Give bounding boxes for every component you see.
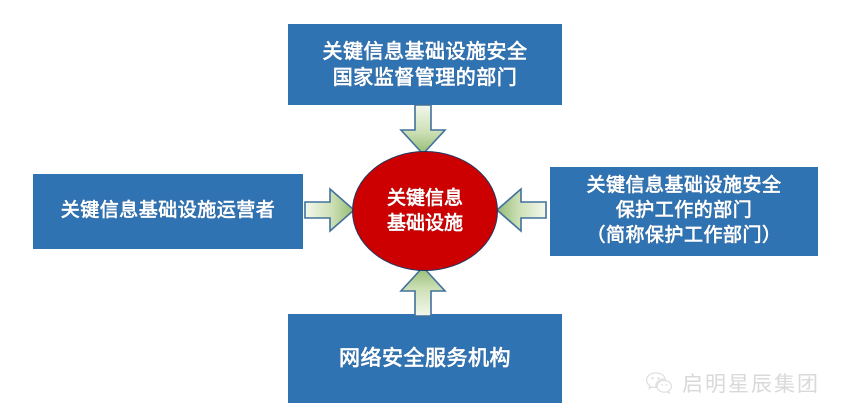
bottom-node-label: 网络安全服务机构 xyxy=(288,345,562,372)
center-node-line-2: 基础设施 xyxy=(387,211,463,236)
top-node: 关键信息基础设施安全 国家监督管理的部门 xyxy=(288,24,562,105)
center-node-label: 关键信息 基础设施 xyxy=(387,186,463,236)
diagram-canvas: 关键信息基础设施安全 国家监督管理的部门 关键信息基础设施运营者 关键信息基础设… xyxy=(0,0,842,415)
right-node-line-3: （简称保护工作部门） xyxy=(550,224,818,249)
left-node: 关键信息基础设施运营者 xyxy=(33,174,303,249)
right-node-label: 关键信息基础设施安全 保护工作的部门 （简称保护工作部门） xyxy=(550,174,818,248)
arrow-right-icon xyxy=(304,186,356,234)
left-node-line-1: 关键信息基础设施运营者 xyxy=(33,199,303,224)
right-node: 关键信息基础设施安全 保护工作的部门 （简称保护工作部门） xyxy=(550,167,818,256)
left-node-label: 关键信息基础设施运营者 xyxy=(33,199,303,224)
wechat-icon xyxy=(645,371,673,395)
arrow-down-icon xyxy=(397,104,449,156)
right-node-line-2: 保护工作的部门 xyxy=(550,199,818,224)
right-node-line-1: 关键信息基础设施安全 xyxy=(550,174,818,199)
top-node-label: 关键信息基础设施安全 国家监督管理的部门 xyxy=(288,39,562,91)
bottom-node: 网络安全服务机构 xyxy=(288,314,562,403)
watermark-label: 启明星辰集团 xyxy=(682,368,820,398)
arrow-left-icon xyxy=(495,186,547,234)
bottom-node-line-1: 网络安全服务机构 xyxy=(288,345,562,372)
top-node-line-2: 国家监督管理的部门 xyxy=(288,65,562,91)
arrow-up-icon xyxy=(397,266,449,318)
center-node-line-1: 关键信息 xyxy=(387,186,463,211)
watermark: 启明星辰集团 xyxy=(645,368,820,398)
top-node-line-1: 关键信息基础设施安全 xyxy=(288,39,562,65)
center-node: 关键信息 基础设施 xyxy=(352,151,498,271)
